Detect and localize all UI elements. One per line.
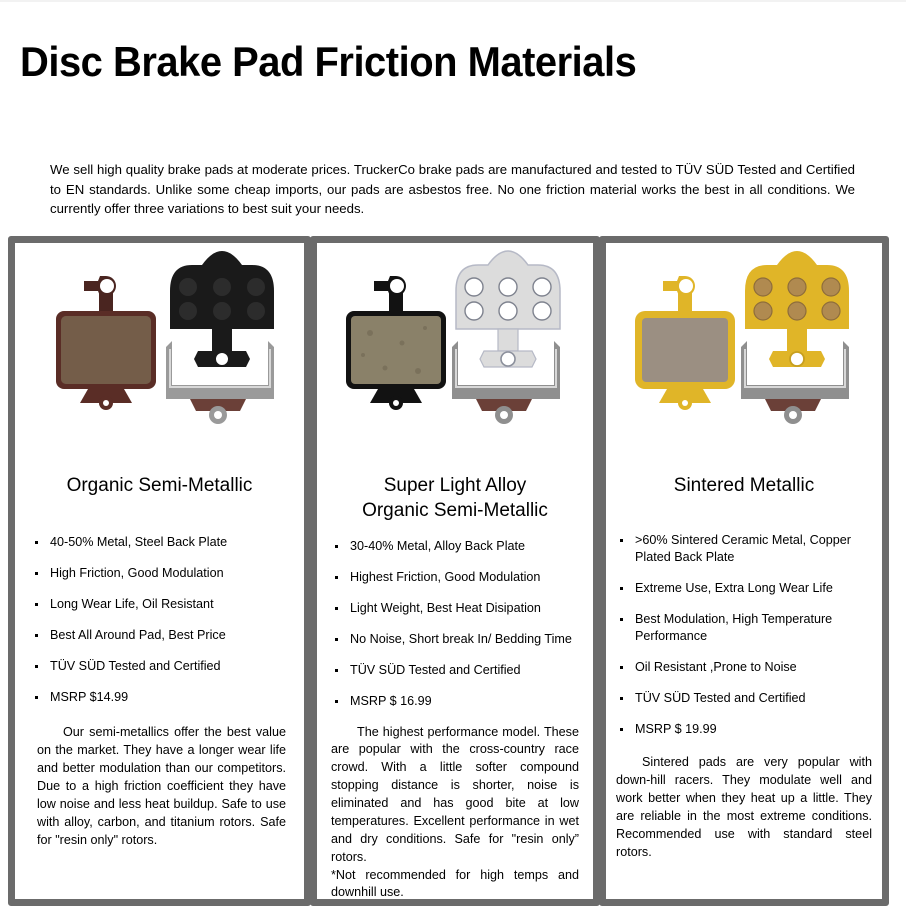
product-panels-container: Organic Semi-Metallic 40-50% Metal, Stee… [8,236,890,906]
feature-item: 40-50% Metal, Steel Back Plate [33,534,304,551]
feature-item: MSRP $ 19.99 [618,721,882,738]
organic-semi-metallic-brake-pad-photo [15,243,304,465]
feature-item: Best Modulation, High Temperature Perfor… [618,611,882,645]
product-title-line1: Organic Semi-Metallic [67,475,253,496]
feature-item: MSRP $14.99 [33,689,304,706]
feature-list: >60% Sintered Ceramic Metal, Copper Plat… [606,532,882,738]
feature-item: TÜV SÜD Tested and Certified [618,690,882,707]
product-card-organic-semi-metallic[interactable]: Organic Semi-Metallic 40-50% Metal, Stee… [8,236,311,906]
feature-item: Light Weight, Best Heat Disipation [333,600,593,617]
product-title: Super Light Alloy Organic Semi-Metallic [317,473,593,524]
product-title: Sintered Metallic [606,473,882,498]
feature-list: 30-40% Metal, Alloy Back Plate Highest F… [317,538,593,710]
product-title: Organic Semi-Metallic [15,473,304,498]
top-rule [0,0,906,2]
sintered-metallic-brake-pad-photo [606,243,882,465]
product-title-line1: Sintered Metallic [674,475,814,496]
feature-item: No Noise, Short break In/ Bedding Time [333,631,593,648]
product-title-line1: Super Light Alloy [323,473,587,498]
product-card-super-light-alloy[interactable]: Super Light Alloy Organic Semi-Metallic … [310,236,600,906]
feature-item: TÜV SÜD Tested and Certified [33,658,304,675]
product-description: Our semi-metallics offer the best value … [15,724,304,849]
feature-item: Best All Around Pad, Best Price [33,627,304,644]
intro-paragraph: We sell high quality brake pads at moder… [50,160,855,219]
feature-item: Long Wear Life, Oil Resistant [33,596,304,613]
super-light-alloy-brake-pad-photo [317,243,593,465]
feature-item: High Friction, Good Modulation [33,565,304,582]
page-title: Disc Brake Pad Friction Materials [20,40,636,84]
feature-item: 30-40% Metal, Alloy Back Plate [333,538,593,555]
product-description: The highest performance model. These are… [317,724,593,867]
feature-item: >60% Sintered Ceramic Metal, Copper Plat… [618,532,882,566]
feature-item: MSRP $ 16.99 [333,693,593,710]
product-title-line2: Organic Semi-Metallic [323,498,587,523]
feature-list: 40-50% Metal, Steel Back Plate High Fric… [15,534,304,706]
feature-item: TÜV SÜD Tested and Certified [333,662,593,679]
feature-item: Extreme Use, Extra Long Wear Life [618,580,882,597]
feature-item: Oil Resistant ,Prone to Noise [618,659,882,676]
product-description-note: *Not recommended for high temps and down… [317,867,593,899]
product-description: Sintered pads are very popular with down… [606,754,882,861]
feature-item: Highest Friction, Good Modulation [333,569,593,586]
product-card-sintered-metallic[interactable]: Sintered Metallic >60% Sintered Ceramic … [599,236,889,906]
